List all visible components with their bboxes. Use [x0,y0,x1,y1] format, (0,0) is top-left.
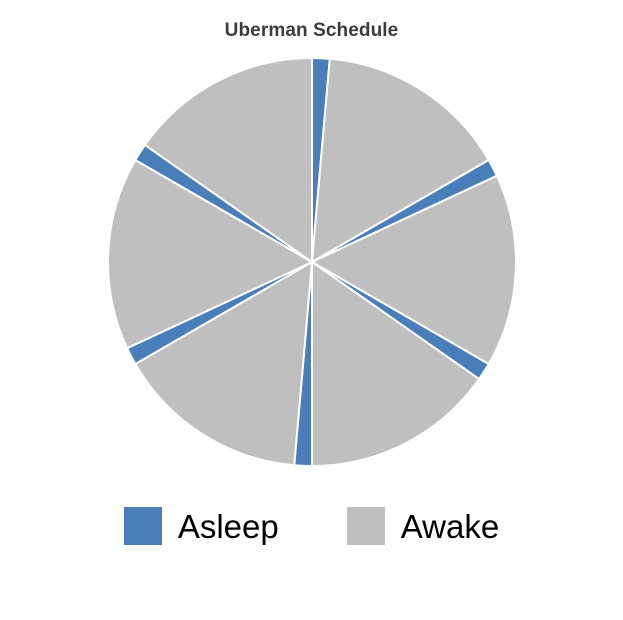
legend-swatch-awake-icon [347,507,385,545]
chart-legend: Asleep Awake [0,496,623,556]
legend-label-asleep: Asleep [178,510,279,543]
pie-slice-group [108,58,516,466]
legend-swatch-asleep-icon [124,507,162,545]
legend-item-awake[interactable]: Awake [347,507,499,545]
pie-chart-svg [0,0,623,480]
legend-label-awake: Awake [401,510,499,543]
legend-item-asleep[interactable]: Asleep [124,507,279,545]
pie-chart-area [0,0,623,480]
chart-figure: Uberman Schedule Asleep Awake [0,0,623,620]
